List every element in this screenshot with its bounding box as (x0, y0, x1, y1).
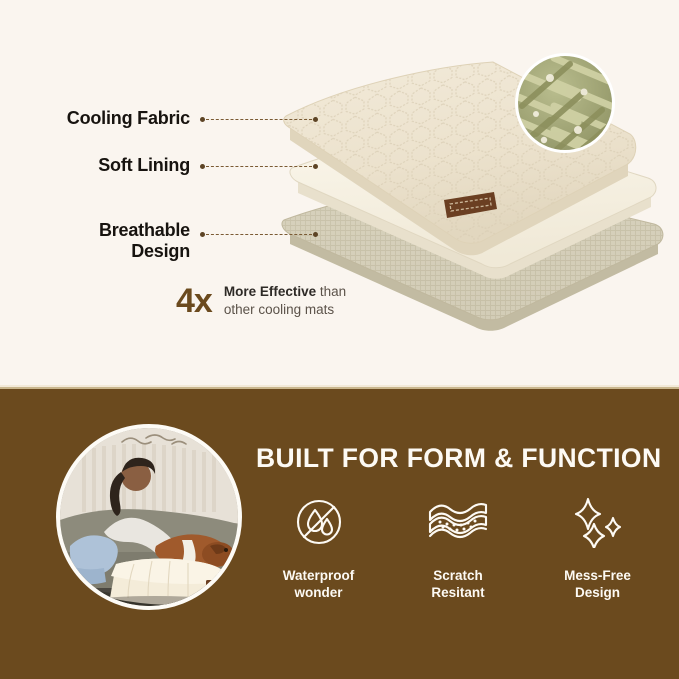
feature-label-line-2: Resitant (431, 584, 484, 601)
features-list: Waterproof wonder (256, 489, 660, 602)
leader-dot-end (313, 117, 318, 122)
callout-soft-lining: Soft Lining (30, 155, 318, 177)
leader-line-soft-lining (200, 161, 318, 171)
callout-label-breathable-design: Breathable Design (30, 220, 190, 262)
callout-cooling-fabric: Cooling Fabric (30, 108, 318, 130)
callout-label-line-2: Design (30, 241, 190, 262)
leader-dash (206, 119, 312, 120)
lifestyle-photo (56, 424, 242, 610)
leader-dot-start (200, 164, 205, 169)
features-panel: BUILT FOR FORM & FUNCTION Waterproof won… (0, 389, 679, 679)
leader-dot-start (200, 117, 205, 122)
leader-dash (206, 234, 312, 235)
effectiveness-claim: 4x More Effective than other cooling mat… (176, 283, 346, 319)
feature-label-line-1: Mess-Free (564, 567, 631, 584)
feature-label-line-1: Scratch (431, 567, 484, 584)
feature-waterproof: Waterproof wonder (256, 489, 381, 602)
product-layers-panel: Cooling Fabric Soft Lining Breathable De… (0, 0, 679, 385)
claim-second-line: other cooling mats (224, 301, 346, 319)
feature-label-scratch-resistant: Scratch Resitant (431, 567, 484, 602)
leader-dot-end (313, 232, 318, 237)
callout-breathable-design: Breathable Design (30, 220, 318, 262)
feature-label-line-1: Waterproof (283, 567, 355, 584)
feature-label-line-2: wonder (283, 584, 355, 601)
claim-rest-text: than (316, 284, 346, 299)
leader-dot-start (200, 232, 205, 237)
scratch-resistant-fabric-icon (427, 489, 489, 555)
claim-bold-text: More Effective (224, 284, 316, 299)
callout-label-cooling-fabric: Cooling Fabric (30, 108, 190, 130)
feature-scratch-resistant: Scratch Resitant (396, 489, 521, 602)
sparkles-icon (570, 489, 626, 555)
claim-description: More Effective than other cooling mats (224, 283, 346, 319)
feature-label-line-2: Design (564, 584, 631, 601)
leader-line-breathable-design (200, 229, 318, 239)
feature-label-waterproof: Waterproof wonder (283, 567, 355, 602)
waterproof-droplet-slash-icon (293, 489, 345, 555)
leader-dot-end (313, 164, 318, 169)
features-headline: BUILT FOR FORM & FUNCTION (256, 443, 656, 474)
feature-label-mess-free: Mess-Free Design (564, 567, 631, 602)
leader-dash (206, 166, 312, 167)
feature-mess-free: Mess-Free Design (535, 489, 660, 602)
claim-multiplier: 4x (176, 284, 212, 318)
leader-line-cooling-fabric (200, 114, 318, 124)
callout-label-line-1: Breathable (30, 220, 190, 241)
callout-label-soft-lining: Soft Lining (30, 155, 190, 177)
